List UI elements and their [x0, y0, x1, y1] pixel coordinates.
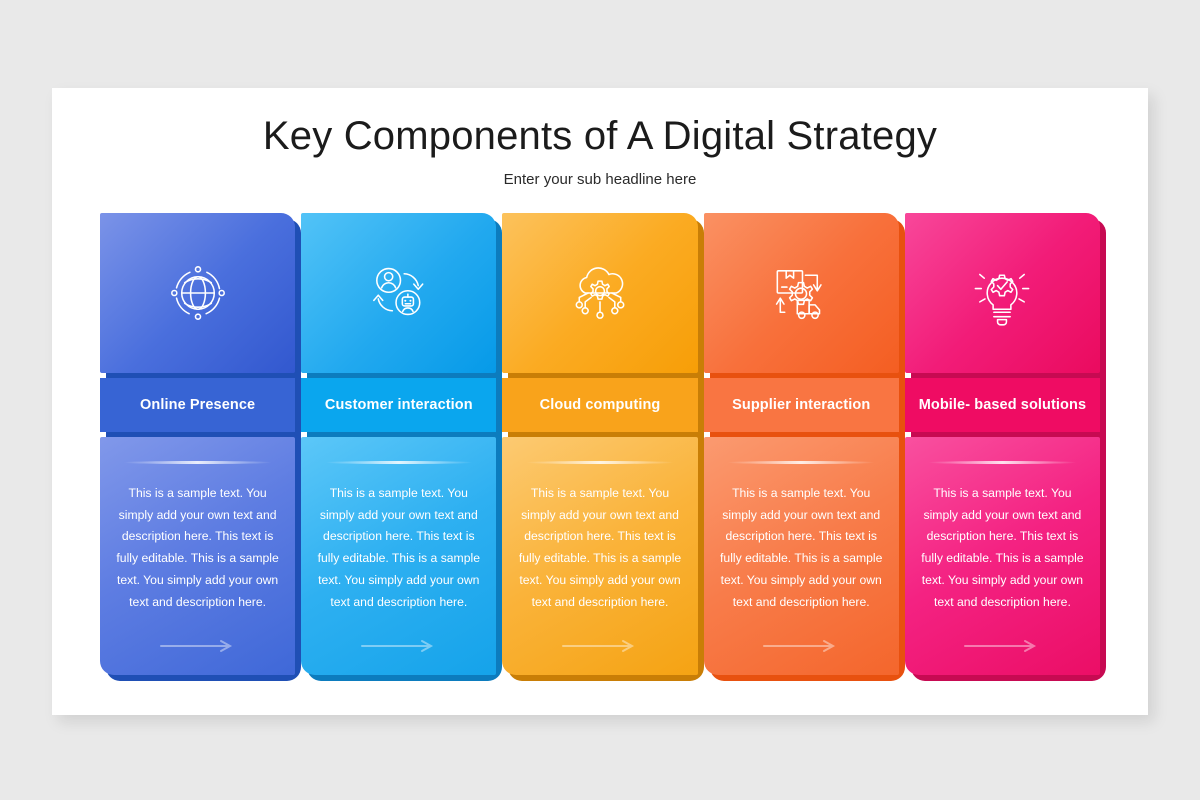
divider-flare [727, 461, 875, 464]
icon-tile-cloud-computing [502, 213, 697, 373]
card-body-mobile-based-solutions: This is a sample text. You simply add yo… [905, 437, 1100, 675]
cloud-gear-network-icon [563, 256, 637, 330]
slide-canvas: Key Components of A Digital Strategy Ent… [52, 88, 1148, 715]
page-subtitle: Enter your sub headline here [52, 171, 1148, 188]
icon-tile-online-presence [100, 213, 295, 373]
arrow-right-icon [159, 639, 237, 653]
person-robot-exchange-icon [362, 256, 436, 330]
icon-tile-customer-interaction [301, 213, 496, 373]
box-gear-truck-icon [764, 256, 838, 330]
page-title: Key Components of A Digital Strategy [52, 113, 1148, 159]
card-title-online-presence: Online Presence [100, 378, 295, 432]
card-title-label: Supplier interaction [732, 396, 870, 414]
card-body-supplier-interaction: This is a sample text. You simply add yo… [704, 437, 899, 675]
component-columns: Online Presence This is a sample text. Y… [100, 213, 1100, 675]
column-customer-interaction[interactable]: Customer interaction This is a sample te… [301, 213, 496, 675]
column-mobile-based-solutions[interactable]: Mobile- based solutions This is a sample… [905, 213, 1100, 675]
globe-network-icon [161, 256, 235, 330]
arrow-right-icon [963, 639, 1041, 653]
card-body-text: This is a sample text. You simply add yo… [315, 483, 482, 613]
heading-block: Key Components of A Digital Strategy Ent… [52, 113, 1148, 188]
card-title-label: Cloud computing [540, 396, 661, 414]
divider-flare [526, 461, 674, 464]
arrow-right-icon [360, 639, 438, 653]
card-title-label: Mobile- based solutions [919, 396, 1086, 414]
icon-tile-supplier-interaction [704, 213, 899, 373]
arrow-right-icon [561, 639, 639, 653]
card-title-label: Online Presence [140, 396, 255, 414]
card-body-cloud-computing: This is a sample text. You simply add yo… [502, 437, 697, 675]
column-supplier-interaction[interactable]: Supplier interaction This is a sample te… [704, 213, 899, 675]
card-body-text: This is a sample text. You simply add yo… [516, 483, 683, 613]
card-title-customer-interaction: Customer interaction [301, 378, 496, 432]
card-title-label: Customer interaction [325, 396, 473, 414]
card-body-text: This is a sample text. You simply add yo… [718, 483, 885, 613]
card-title-supplier-interaction: Supplier interaction [704, 378, 899, 432]
card-body-text: This is a sample text. You simply add yo… [114, 483, 281, 613]
card-body-online-presence: This is a sample text. You simply add yo… [100, 437, 295, 675]
arrow-right-icon [762, 639, 840, 653]
divider-flare [928, 461, 1076, 464]
lightbulb-gear-check-icon [965, 256, 1039, 330]
divider-flare [325, 461, 473, 464]
column-cloud-computing[interactable]: Cloud computing This is a sample text. Y… [502, 213, 697, 675]
divider-flare [123, 461, 271, 464]
icon-tile-mobile-based-solutions [905, 213, 1100, 373]
card-body-text: This is a sample text. You simply add yo… [919, 483, 1086, 613]
card-body-customer-interaction: This is a sample text. You simply add yo… [301, 437, 496, 675]
card-title-cloud-computing: Cloud computing [502, 378, 697, 432]
column-online-presence[interactable]: Online Presence This is a sample text. Y… [100, 213, 295, 675]
card-title-mobile-based-solutions: Mobile- based solutions [905, 378, 1100, 432]
